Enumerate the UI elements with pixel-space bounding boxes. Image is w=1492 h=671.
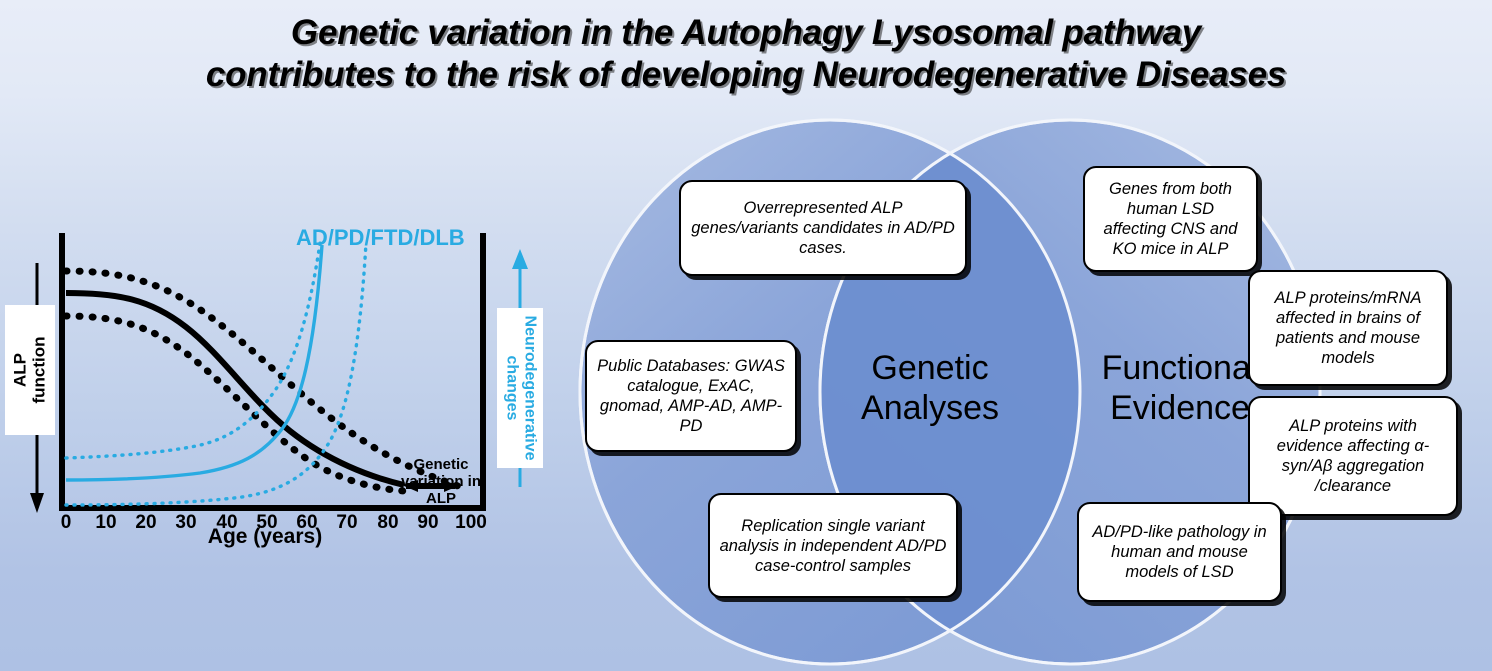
x-tick-0: 0 <box>61 512 72 534</box>
alp-upper-bound-curve <box>66 271 458 486</box>
y-axis-label-left-line2: function <box>30 336 49 403</box>
callout-overrepresented-alp: Overrepresented ALP genes/variants candi… <box>679 180 967 276</box>
callout-alp-proteins-mrna: ALP proteins/mRNA affected in brains of … <box>1248 270 1448 386</box>
neurodegeneration-late-curve <box>66 243 366 505</box>
figure-root: Genetic variation in the Autophagy Lysos… <box>0 0 1492 671</box>
chart-legend-adpd: AD/PD/FTD/DLB <box>296 225 465 251</box>
genetic-variation-annotation-line1: Genetic <box>413 456 468 473</box>
y-axis-label-right-line1: Neurodegenerative <box>521 316 538 461</box>
venn-left-title-line2: Analyses <box>861 389 999 427</box>
venn-right-title-line1: Functional <box>1102 349 1259 387</box>
y-axis-label-right: Neurodegenerative changes <box>497 308 543 468</box>
x-tick-70: 70 <box>336 512 357 534</box>
x-tick-90: 90 <box>417 512 438 534</box>
y-axis-label-left-line1: ALP <box>11 353 30 387</box>
y-axis-label-left: ALP function <box>5 305 55 435</box>
callout-public-databases: Public Databases: GWAS catalogue, ExAC, … <box>585 340 797 452</box>
venn-right-title-line2: Evidence <box>1110 389 1250 427</box>
x-tick-80: 80 <box>377 512 398 534</box>
title-line-1: Genetic variation in the Autophagy Lysos… <box>0 12 1492 54</box>
genetic-variation-annotation: Genetic variation in ALP <box>381 456 501 507</box>
callout-alp-proteins-aggregation: ALP proteins with evidence affecting α-s… <box>1248 396 1458 516</box>
callout-adpd-like-pathology: AD/PD-like pathology in human and mouse … <box>1077 502 1282 602</box>
venn-left-title: Genetic Analyses <box>830 348 1030 428</box>
venn-left-title-line1: Genetic <box>871 349 988 387</box>
x-tick-20: 20 <box>135 512 156 534</box>
x-axis-title: Age (years) <box>208 525 322 549</box>
figure-title: Genetic variation in the Autophagy Lysos… <box>0 12 1492 96</box>
y-axis-label-right-line2: changes <box>503 356 520 421</box>
x-tick-30: 30 <box>175 512 196 534</box>
callout-genes-human-lsd: Genes from both human LSD affecting CNS … <box>1083 166 1258 272</box>
genetic-variation-annotation-line2: variation in <box>401 473 481 490</box>
venn-diagram: Genetic Analyses Functional Evidence Ove… <box>540 118 1492 671</box>
alp-function-chart: 0 10 20 30 40 50 60 70 80 90 100 Age (ye… <box>0 215 570 575</box>
x-tick-100: 100 <box>455 512 487 534</box>
x-tick-10: 10 <box>95 512 116 534</box>
callout-replication-analysis: Replication single variant analysis in i… <box>708 493 958 598</box>
title-line-2: contributes to the risk of developing Ne… <box>0 54 1492 96</box>
genetic-variation-annotation-line3: ALP <box>426 490 456 507</box>
